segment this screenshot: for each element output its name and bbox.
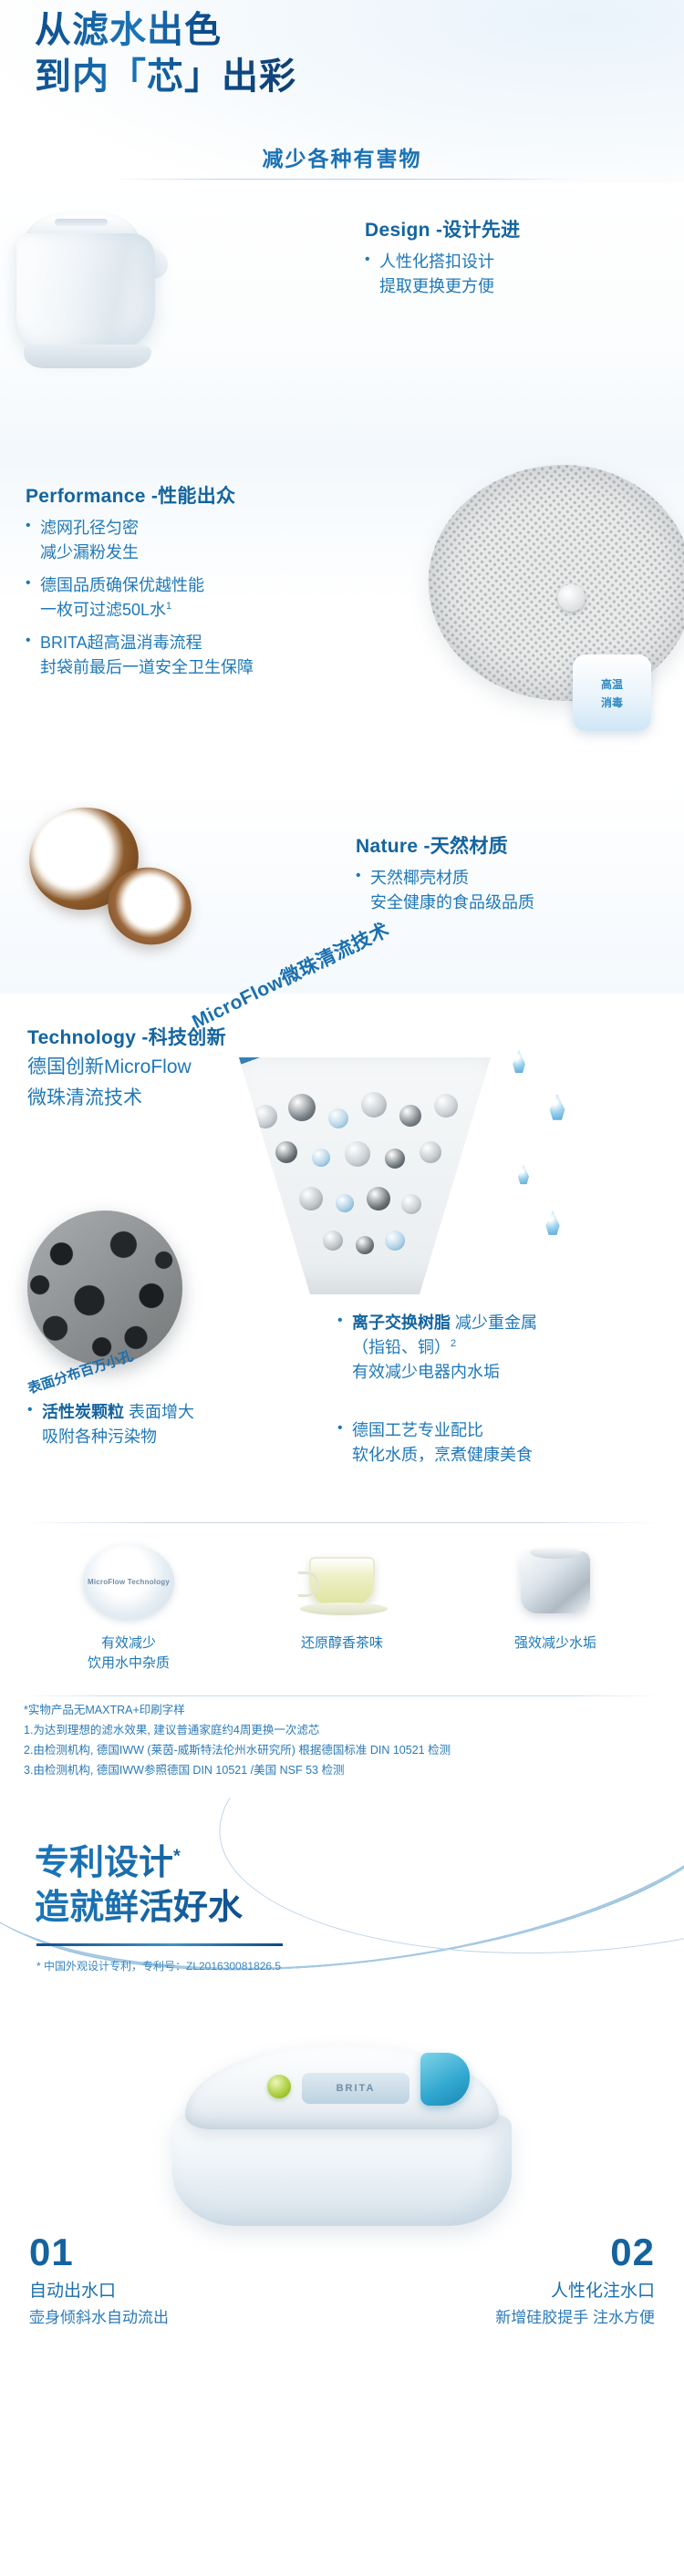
product-section: BRITA 01 自动出水口 壶身倾斜水自动流出 02 人性化注水口 新增硅胶提… bbox=[0, 2035, 684, 2281]
design-text-block: Design -设计先进 人性化搭扣设计 提取更换更方便 bbox=[365, 215, 520, 299]
cartridge-base bbox=[24, 345, 151, 368]
green-indicator-dot bbox=[267, 2075, 291, 2098]
performance-footnote-ref-1: 1 bbox=[166, 601, 171, 612]
benefit-caption-1-line2: 饮用水中杂质 bbox=[88, 1654, 170, 1674]
hero-subtitle-divider bbox=[109, 179, 579, 180]
mesh-center-knob bbox=[556, 582, 586, 613]
tea-cup-shape bbox=[309, 1557, 375, 1608]
benefit-caption-3: 强效减少水垢 bbox=[514, 1633, 596, 1654]
footnote-1: 1.为达到理想的滤水效果, 建议普通家庭约4周更换一次滤芯 bbox=[24, 1721, 660, 1741]
german-line2: 软化水质，烹煮健康美食 bbox=[352, 1443, 666, 1468]
bead bbox=[420, 1141, 441, 1163]
nature-heading: Nature -天然材质 bbox=[356, 831, 534, 859]
benefit-item-2: 还原醇香茶味 bbox=[235, 1542, 449, 1674]
footnotes-divider bbox=[24, 1695, 660, 1696]
jug-brand-text: BRITA bbox=[337, 2083, 376, 2094]
microflow-disc-icon: MicroFlow Technology bbox=[79, 1542, 178, 1623]
hero-subtitle: 减少各种有害物 bbox=[0, 141, 684, 172]
water-drop-icon bbox=[544, 1211, 562, 1236]
water-drop-icon bbox=[547, 1094, 567, 1121]
performance-bullet-3: BRITA超高温消毒流程 封袋前最后一道安全卫生保障 bbox=[26, 631, 254, 680]
design-bullet-1-line2: 提取更换更方便 bbox=[379, 274, 520, 299]
kettle-shape bbox=[521, 1551, 590, 1613]
cartridge-slot bbox=[55, 219, 108, 226]
badge-line1: 高温 bbox=[601, 676, 623, 692]
hero-section: 从滤水出色 到内「芯」出彩 减少各种有害物 bbox=[0, 0, 684, 182]
feature-02: 02 人性化注水口 新增硅胶提手 注水方便 bbox=[342, 2233, 684, 2327]
feature-01-desc: 壶身倾斜水自动流出 bbox=[29, 2304, 313, 2327]
bead bbox=[399, 1105, 421, 1127]
performance-bullet-2-line1: 德国品质确保优越性能 bbox=[40, 576, 204, 594]
performance-bullets: 滤网孔径匀密 减少漏粉发生 德国品质确保优越性能 一枚可过滤50L水1 BRIT… bbox=[26, 516, 254, 680]
technology-text-block: Technology -科技创新 德国创新MicroFlow 微珠清流技术 bbox=[27, 1023, 226, 1113]
performance-bullet-2-line2-wrap: 一枚可过滤50L水1 bbox=[40, 598, 254, 623]
footnotes-block: *实物产品无MAXTRA+印刷字样 1.为达到理想的滤水效果, 建议普通家庭约4… bbox=[0, 1695, 684, 1798]
benefit-caption-1: 有效减少 饮用水中杂质 bbox=[88, 1633, 170, 1674]
feature-01-number: 01 bbox=[29, 2233, 313, 2272]
design-bullet-1: 人性化搭扣设计 提取更换更方便 bbox=[365, 250, 520, 299]
jug-body bbox=[172, 2113, 512, 2226]
microflow-funnel-diagram bbox=[228, 1057, 502, 1294]
patent-title: 专利设计* 造就鲜活好水 bbox=[35, 1841, 243, 1932]
technology-sub-line1: 德国创新MicroFlow bbox=[27, 1054, 226, 1081]
patent-title-line1: 专利设计 bbox=[35, 1844, 173, 1882]
footnote-3: 3.由检测机构, 德国IWW参照德国 DIN 10521 /美国 NSF 53 … bbox=[24, 1761, 660, 1781]
hero-title: 从滤水出色 到内「芯」出彩 bbox=[35, 7, 296, 100]
benefit-icon-row: MicroFlow Technology 有效减少 饮用水中杂质 还原醇香茶味 bbox=[0, 1522, 684, 1695]
icon-row-top-divider bbox=[24, 1522, 660, 1523]
resin-footnote-ref-2: 2 bbox=[451, 1338, 456, 1349]
bead bbox=[288, 1094, 316, 1121]
water-drop-icon bbox=[516, 1165, 531, 1185]
patent-title-line1-wrap: 专利设计* bbox=[35, 1841, 243, 1886]
benefit-caption-2-line1: 还原醇香茶味 bbox=[301, 1633, 383, 1654]
footnote-0: *实物产品无MAXTRA+印刷字样 bbox=[24, 1701, 660, 1721]
technology-section: Technology -科技创新 德国创新MicroFlow 微珠清流技术 Mi… bbox=[0, 994, 684, 1522]
badge-line2: 消毒 bbox=[601, 695, 623, 710]
jug-brand-plate: BRITA bbox=[302, 2073, 409, 2104]
carbon-bullet: 活性炭颗粒 表面增大 吸附各种污染物 bbox=[27, 1400, 328, 1449]
benefit-caption-3-line1: 强效减少水垢 bbox=[514, 1633, 596, 1654]
tea-saucer bbox=[300, 1602, 388, 1615]
design-section: Design -设计先进 人性化搭扣设计 提取更换更方便 bbox=[0, 182, 684, 456]
performance-section: 高温 消毒 Performance -性能出众 滤网孔径匀密 减少漏粉发生 德国… bbox=[0, 456, 684, 784]
icon-columns: MicroFlow Technology 有效减少 饮用水中杂质 还原醇香茶味 bbox=[0, 1522, 684, 1674]
feature-02-desc: 新增硅胶提手 注水方便 bbox=[371, 2304, 655, 2327]
german-process-text-block: 德国工艺专业配比 软化水质，烹煮健康美食 bbox=[337, 1418, 666, 1468]
performance-bullet-3-line2: 封袋前最后一道安全卫生保障 bbox=[40, 655, 254, 680]
benefit-item-3: 强效减少水垢 bbox=[449, 1542, 662, 1674]
coconut-image bbox=[24, 800, 197, 955]
resin-rest: 减少重金属 bbox=[455, 1314, 537, 1332]
performance-bullet-2: 德国品质确保优越性能 一枚可过滤50L水1 bbox=[26, 573, 254, 623]
resin-line3: 有效减少电器内水垢 bbox=[352, 1360, 666, 1385]
performance-heading: Performance -性能出众 bbox=[26, 481, 254, 509]
water-jug-image: BRITA bbox=[160, 2042, 524, 2233]
resin-bullet: 离子交换树脂 减少重金属 （指铅、铜）2 有效减少电器内水垢 bbox=[337, 1311, 666, 1385]
microflow-disc-text: MicroFlow Technology bbox=[88, 1578, 170, 1586]
design-heading: Design -设计先进 bbox=[365, 215, 520, 242]
bead bbox=[385, 1231, 405, 1251]
carbon-title: 活性炭颗粒 bbox=[42, 1403, 124, 1421]
german-bullet: 德国工艺专业配比 软化水质，烹煮健康美食 bbox=[337, 1418, 666, 1468]
bead bbox=[367, 1187, 390, 1211]
patent-divider bbox=[36, 1943, 283, 1946]
german-line1: 德国工艺专业配比 bbox=[352, 1421, 483, 1439]
carbon-text-block: 活性炭颗粒 表面增大 吸附各种污染物 bbox=[27, 1400, 328, 1449]
water-drop-icon bbox=[511, 1050, 527, 1074]
bead bbox=[275, 1141, 297, 1163]
feature-01: 01 自动出水口 壶身倾斜水自动流出 bbox=[0, 2233, 342, 2327]
bead bbox=[312, 1149, 330, 1167]
carbon-rest: 表面增大 bbox=[129, 1403, 194, 1421]
hero-title-line1: 从滤水出色 bbox=[35, 7, 296, 54]
patent-title-star: * bbox=[173, 1846, 181, 1866]
benefit-caption-1-line1: 有效减少 bbox=[88, 1633, 170, 1654]
performance-bullet-1-line1: 滤网孔径匀密 bbox=[40, 519, 139, 537]
resin-text-block: 离子交换树脂 减少重金属 （指铅、铜）2 有效减少电器内水垢 bbox=[337, 1311, 666, 1385]
microflow-disc-shape: MicroFlow Technology bbox=[83, 1544, 174, 1619]
high-temp-disinfect-badge: 高温 消毒 bbox=[573, 654, 651, 731]
bead bbox=[299, 1187, 323, 1211]
feature-02-number: 02 bbox=[371, 2233, 655, 2272]
design-bullet-1-line1: 人性化搭扣设计 bbox=[379, 252, 494, 271]
bead bbox=[434, 1094, 458, 1118]
bead bbox=[361, 1092, 387, 1118]
funnel-beads bbox=[228, 1057, 502, 1294]
bead bbox=[336, 1194, 354, 1212]
patent-title-line2: 造就鲜活好水 bbox=[35, 1886, 243, 1931]
filter-cartridge-image bbox=[9, 191, 182, 374]
performance-text-block: Performance -性能出众 滤网孔径匀密 减少漏粉发生 德国品质确保优越… bbox=[26, 481, 254, 680]
bead bbox=[323, 1231, 343, 1251]
feature-02-title: 人性化注水口 bbox=[371, 2277, 655, 2302]
product-infographic-page: 从滤水出色 到内「芯」出彩 减少各种有害物 Design -设计先进 人性化搭扣… bbox=[0, 0, 684, 2281]
cartridge-body bbox=[16, 233, 155, 355]
design-bullets: 人性化搭扣设计 提取更换更方便 bbox=[365, 250, 520, 299]
kettle-icon bbox=[506, 1542, 605, 1623]
patent-section: 专利设计* 造就鲜活好水 * 中国外观设计专利，专利号：ZL2016300818… bbox=[0, 1798, 684, 2035]
bead bbox=[328, 1108, 348, 1128]
performance-bullet-1-line2: 减少漏粉发生 bbox=[40, 541, 254, 565]
benefit-item-1: MicroFlow Technology 有效减少 饮用水中杂质 bbox=[22, 1542, 235, 1674]
hero-divider bbox=[36, 128, 315, 130]
bead bbox=[345, 1141, 370, 1167]
feature-row: 01 自动出水口 壶身倾斜水自动流出 02 人性化注水口 新增硅胶提手 注水方便 bbox=[0, 2233, 684, 2327]
patent-note: * 中国外观设计专利，专利号：ZL201630081826.5 bbox=[36, 1958, 281, 1973]
footnote-2: 2.由检测机构, 德国IWW (莱茵-威斯特法伦州水研究所) 根据德国标准 DI… bbox=[24, 1741, 660, 1761]
bead bbox=[356, 1236, 374, 1254]
technology-sub-line2: 微珠清流技术 bbox=[27, 1085, 226, 1112]
performance-bullet-1: 滤网孔径匀密 减少漏粉发生 bbox=[26, 516, 254, 565]
bead bbox=[254, 1105, 277, 1128]
resin-line2: （指铅、铜） bbox=[352, 1338, 451, 1356]
resin-line2-wrap: （指铅、铜）2 bbox=[352, 1335, 666, 1360]
feature-01-title: 自动出水口 bbox=[29, 2277, 313, 2302]
carbon-line2: 吸附各种污染物 bbox=[42, 1425, 328, 1449]
performance-bullet-3-line1: BRITA超高温消毒流程 bbox=[40, 634, 202, 652]
performance-bullet-2-line2: 一枚可过滤50L水 bbox=[40, 601, 166, 619]
bead bbox=[401, 1194, 421, 1214]
tea-cup-icon bbox=[293, 1542, 391, 1623]
resin-title: 离子交换树脂 bbox=[352, 1314, 451, 1332]
bead bbox=[385, 1149, 405, 1169]
hero-title-line2: 到内「芯」出彩 bbox=[35, 54, 296, 100]
benefit-caption-2: 还原醇香茶味 bbox=[301, 1633, 383, 1654]
